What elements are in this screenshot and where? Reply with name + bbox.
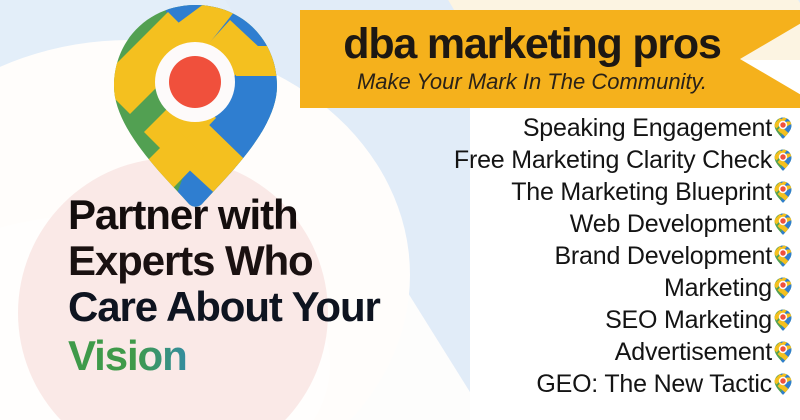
service-item[interactable]: GEO: The New Tactic bbox=[536, 368, 792, 400]
brand-ribbon: dba marketing pros Make Your Mark In The… bbox=[300, 10, 800, 108]
ribbon-text-group: dba marketing pros Make Your Mark In The… bbox=[312, 10, 752, 108]
service-label: Brand Development bbox=[554, 242, 772, 271]
services-list: Speaking Engagement Free Ma bbox=[454, 112, 792, 400]
brand-tagline: Make Your Mark In The Community. bbox=[357, 69, 707, 95]
service-item[interactable]: The Marketing Blueprint bbox=[511, 176, 792, 208]
service-label: The Marketing Blueprint bbox=[511, 178, 772, 207]
map-pin-icon bbox=[774, 309, 792, 331]
service-item[interactable]: Free Marketing Clarity Check bbox=[454, 144, 792, 176]
map-pin-icon bbox=[774, 245, 792, 267]
service-label: Free Marketing Clarity Check bbox=[454, 146, 772, 175]
service-item[interactable]: Web Development bbox=[570, 208, 792, 240]
service-item[interactable]: Brand Development bbox=[554, 240, 792, 272]
service-item[interactable]: Speaking Engagement bbox=[523, 112, 792, 144]
headline-accent-word: Vision bbox=[68, 333, 488, 379]
headline-block: Partner with Experts Who Care About Your… bbox=[68, 192, 488, 379]
service-item[interactable]: Advertisement bbox=[615, 336, 792, 368]
service-item[interactable]: Marketing bbox=[664, 272, 792, 304]
brand-title: dba marketing pros bbox=[343, 23, 720, 67]
map-pin-icon bbox=[774, 341, 792, 363]
service-label: Marketing bbox=[664, 274, 772, 303]
service-label: Advertisement bbox=[615, 338, 772, 367]
map-pin-icon bbox=[774, 149, 792, 171]
service-item[interactable]: SEO Marketing bbox=[605, 304, 792, 336]
headline-line-3: Care About Your bbox=[68, 284, 488, 330]
map-pin-icon bbox=[774, 181, 792, 203]
service-label: Web Development bbox=[570, 210, 772, 239]
marketing-banner: dba marketing pros Make Your Mark In The… bbox=[0, 0, 800, 420]
service-label: Speaking Engagement bbox=[523, 114, 772, 143]
service-label: GEO: The New Tactic bbox=[536, 370, 772, 399]
map-pin-icon bbox=[774, 213, 792, 235]
service-label: SEO Marketing bbox=[605, 306, 772, 335]
map-pin-logo bbox=[108, 2, 283, 210]
map-pin-icon bbox=[774, 117, 792, 139]
map-pin-icon bbox=[774, 277, 792, 299]
map-pin-icon bbox=[774, 373, 792, 395]
headline-line-2: Experts Who bbox=[68, 238, 488, 284]
headline-line-1: Partner with bbox=[68, 192, 488, 238]
